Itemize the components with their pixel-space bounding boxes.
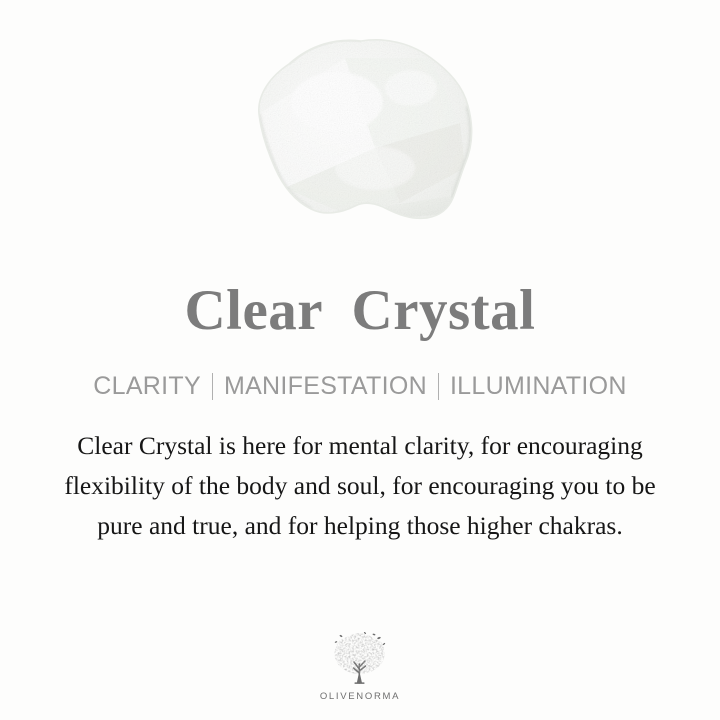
product-description: Clear Crystal is here for mental clarity… [42, 426, 678, 546]
keyword-illumination: ILLUMINATION [450, 374, 627, 399]
crystal-image-container [0, 0, 720, 282]
keyword-list: CLARITY MANIFESTATION ILLUMINATION [93, 373, 626, 400]
brand-name: OLIVENORMA [320, 691, 400, 702]
keyword-clarity: CLARITY [93, 374, 201, 399]
clear-crystal-raw-stone-icon [225, 28, 495, 260]
brand-logo: OLIVENORMA [0, 631, 720, 702]
keyword-manifestation: MANIFESTATION [224, 374, 427, 399]
olive-tree-icon [329, 631, 391, 689]
product-info-card: Clear Crystal CLARITY MANIFESTATION ILLU… [0, 0, 720, 720]
product-title: Clear Crystal [184, 282, 535, 339]
keyword-separator [438, 373, 439, 400]
keyword-separator [212, 373, 213, 400]
